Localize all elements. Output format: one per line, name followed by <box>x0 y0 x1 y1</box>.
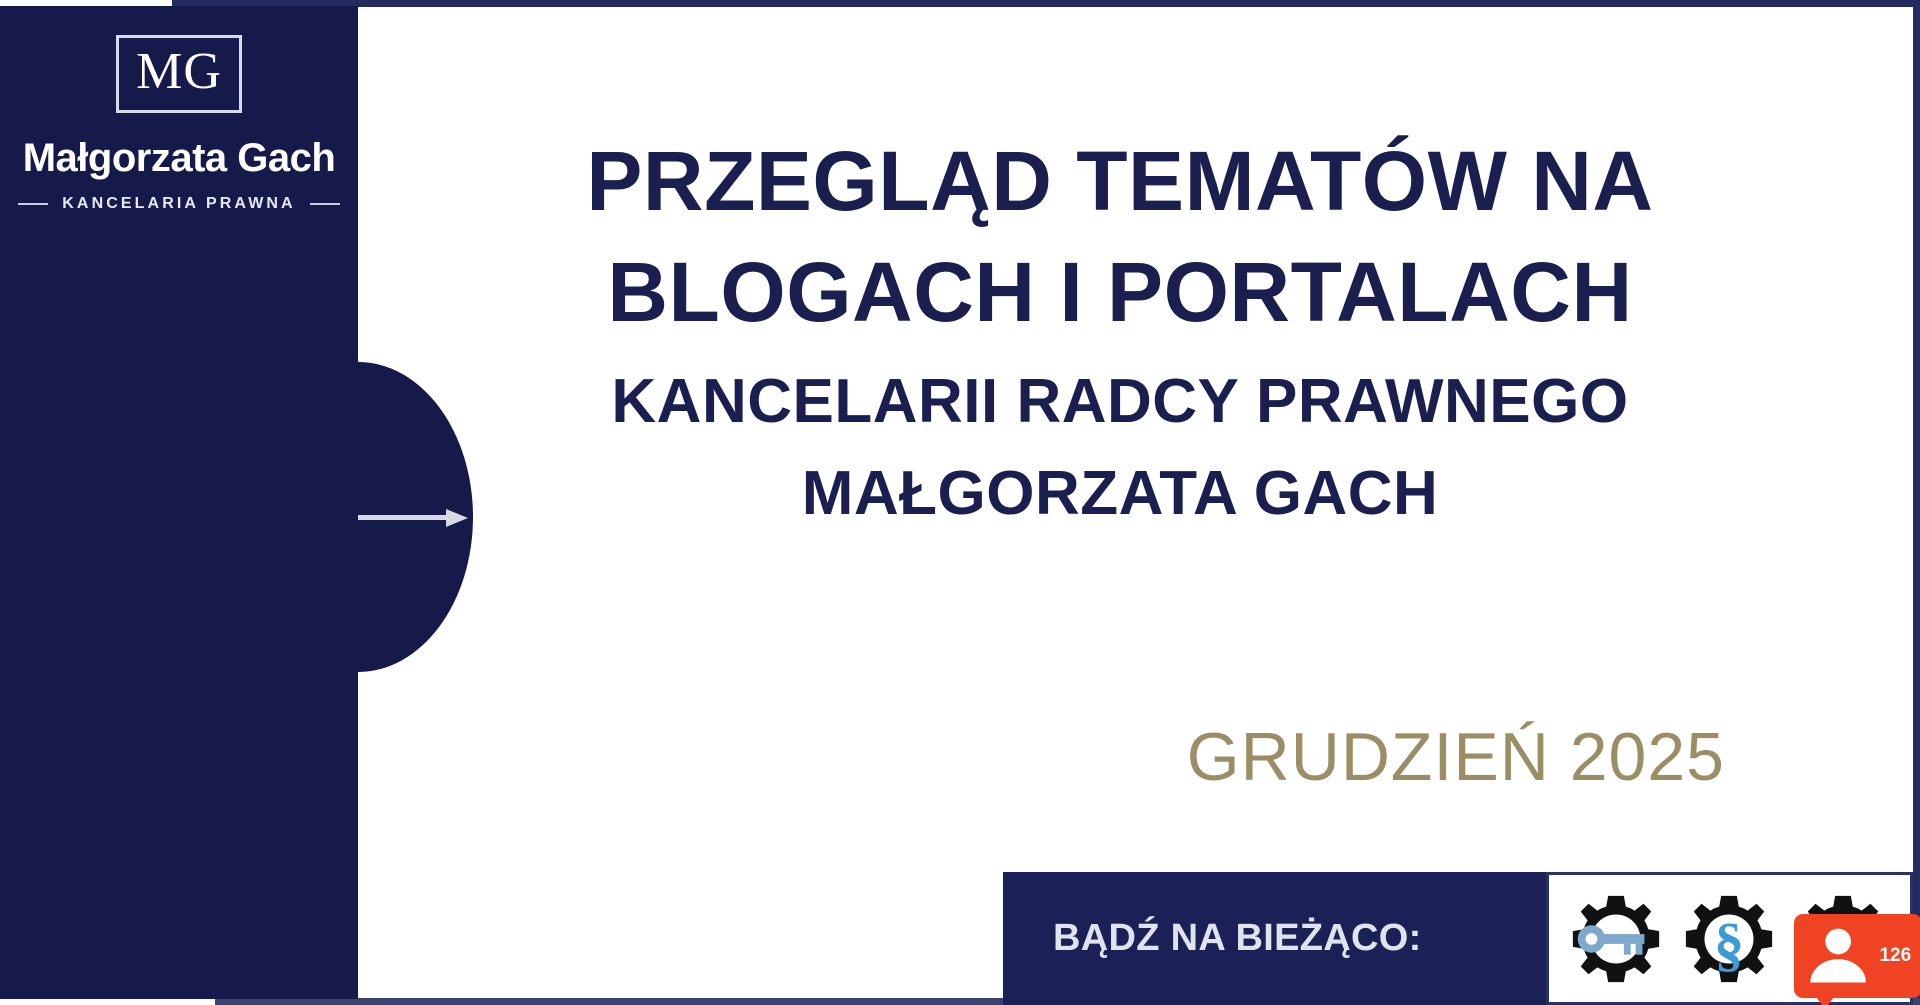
logo-tagline-row: KANCELARIA PRAWNA <box>0 195 358 213</box>
follower-count: 126 <box>1879 946 1911 965</box>
logo-rule-left <box>18 203 48 205</box>
logo-tagline: KANCELARIA PRAWNA <box>62 195 295 213</box>
cta-bar: BĄDŹ NA BIEŻĄCO: <box>1003 872 1546 1005</box>
social-icon-strip: § 126 <box>1546 872 1913 1005</box>
logo-monogram-text: MG <box>136 46 222 98</box>
logo-rule-right <box>310 203 340 205</box>
cta-label: BĄDŹ NA BIEŻĄCO: <box>1053 917 1422 960</box>
person-icon <box>1803 921 1873 991</box>
gear-paragraph-icon[interactable]: § <box>1680 890 1778 988</box>
headline-sub-block: KANCELARII RADCY PRAWNEGO MAŁGORZATA GAC… <box>420 356 1820 540</box>
headline-main-line-2: BLOGACH I PORTALACH <box>420 237 1820 348</box>
headline-block: PRZEGLĄD TEMATÓW NA BLOGACH I PORTALACH … <box>420 126 1820 539</box>
logo-name: Małgorzata Gach <box>0 136 358 181</box>
headline-sub-line-2: MAŁGORZATA GACH <box>420 448 1820 540</box>
headline-sub-line-1: KANCELARII RADCY PRAWNEGO <box>420 356 1820 448</box>
svg-text:§: § <box>1714 911 1744 978</box>
slide-date: GRUDZIEŃ 2025 <box>420 718 1820 796</box>
gear-key-icon[interactable] <box>1567 890 1665 988</box>
logo-monogram-box: MG <box>116 35 242 113</box>
brand-logo: MG Małgorzata Gach KANCELARIA PRAWNA <box>0 35 358 213</box>
follower-count-badge: 126 <box>1794 914 1920 998</box>
frame-border-right <box>1913 0 1920 1005</box>
headline-main-line-1: PRZEGLĄD TEMATÓW NA <box>420 126 1820 237</box>
gear-followers-icon[interactable]: 126 <box>1794 890 1892 988</box>
presentation-slide: MG Małgorzata Gach KANCELARIA PRAWNA PRZ… <box>0 0 1920 1005</box>
frame-border-top <box>172 0 1920 7</box>
